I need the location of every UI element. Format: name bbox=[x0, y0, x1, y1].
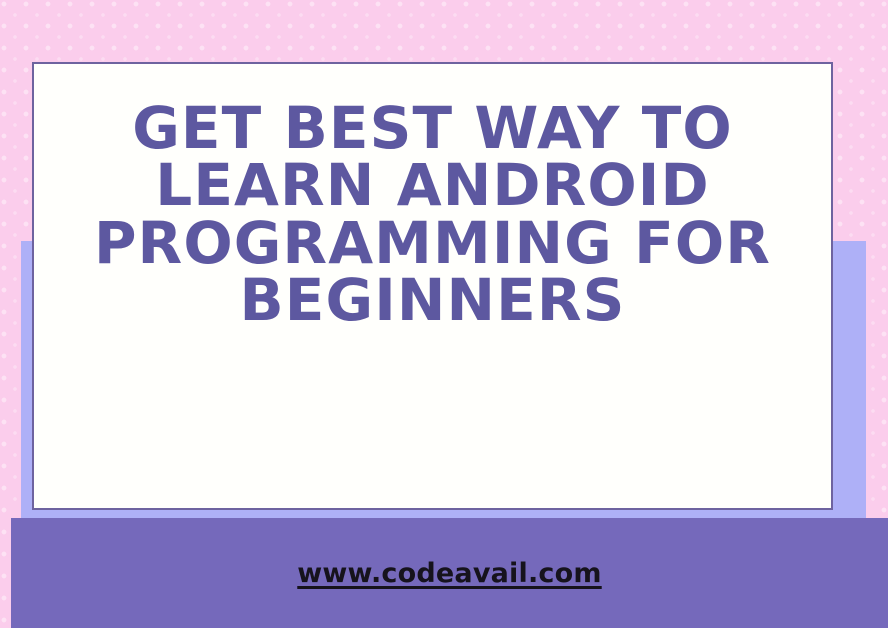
headline-line-4: BEGINNERS bbox=[34, 272, 831, 329]
headline-line-3: PROGRAMMING FOR bbox=[34, 215, 831, 272]
headline-card: GET BEST WAY TO LEARN ANDROID PROGRAMMIN… bbox=[32, 62, 833, 510]
page-title: GET BEST WAY TO LEARN ANDROID PROGRAMMIN… bbox=[34, 100, 831, 330]
poster-canvas: GET BEST WAY TO LEARN ANDROID PROGRAMMIN… bbox=[0, 0, 888, 628]
website-url[interactable]: www.codeavail.com bbox=[297, 558, 601, 589]
footer-band: www.codeavail.com bbox=[11, 518, 888, 628]
headline-line-1: GET BEST WAY TO bbox=[34, 100, 831, 157]
headline-line-2: LEARN ANDROID bbox=[34, 157, 831, 214]
